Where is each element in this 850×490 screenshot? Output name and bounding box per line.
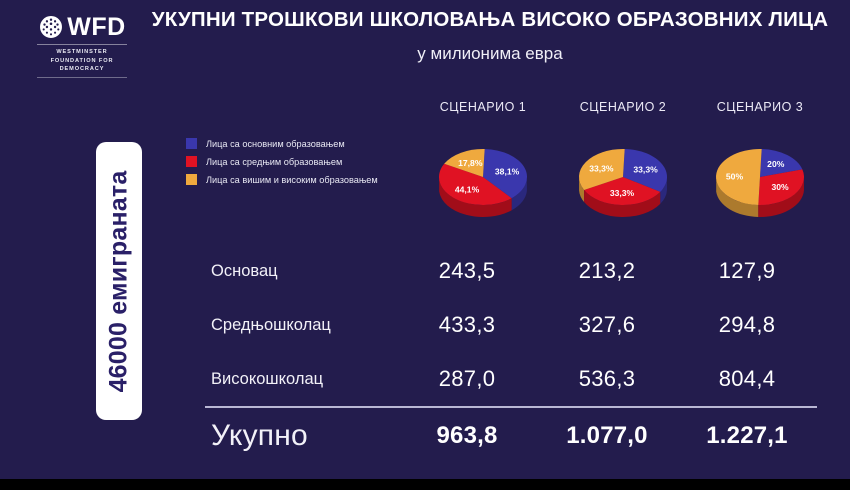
cell-srednjoskolac-scenario-1: 433,3 [397,312,537,338]
table-row: Основац 243,5 213,2 127,9 [205,244,817,298]
cell-srednjoskolac-scenario-2: 327,6 [537,312,677,338]
page-title: УКУПНИ ТРОШКОВИ ШКОЛОВАЊА ВИСОКО ОБРАЗОВ… [140,8,840,32]
cell-srednjoskolac-scenario-3: 294,8 [677,312,817,338]
logo-divider-bottom [37,77,127,78]
legend-label-primary-education: Лица са основним образовањем [206,139,345,149]
logo-divider-top [37,44,127,45]
slide-root: WFD WESTMINSTER FOUNDATION FOR DEMOCRACY… [0,0,850,490]
pie-chart-scenario-3: 20%30%50% [690,133,830,229]
cell-osnovac-scenario-2: 213,2 [537,258,677,284]
pie-slice-label: 44,1% [455,185,480,195]
pie-chart-scenario-2-svg: 33,3%33,3%33,3% [557,133,689,229]
cell-osnovac-scenario-3: 127,9 [677,258,817,284]
emigrants-badge-label: 46000 емиграната [105,170,134,392]
costs-table: Основац 243,5 213,2 127,9 Средњошколац 4… [205,244,817,464]
chart-legend: Лица са основним образовањем Лица са сре… [186,138,416,192]
bottom-black-strip [0,479,850,490]
cell-total-scenario-3: 1.227,1 [677,422,817,450]
pie-slice-label: 38,1% [495,167,520,177]
pie-chart-scenario-1-svg: 38,1%44,1%17,8% [417,133,549,229]
legend-swatch-orange [186,174,197,185]
legend-item-higher-education: Лица са вишим и високим образовањем [186,174,416,185]
cell-visokoskolac-scenario-1: 287,0 [397,366,537,392]
cell-visokoskolac-scenario-3: 804,4 [677,366,817,392]
legend-item-secondary-education: Лица са средњим образовањем [186,156,416,167]
logo-subtitle-line-3: DEMOCRACY [26,65,138,74]
pie-slice-label: 33,3% [633,164,658,174]
row-label-srednjoskolac: Средњошколац [205,316,397,335]
cell-visokoskolac-scenario-2: 536,3 [537,366,677,392]
legend-swatch-blue [186,138,197,149]
cell-osnovac-scenario-1: 243,5 [397,258,537,284]
row-label-total: Укупно [205,419,397,453]
globe-icon [38,14,64,40]
page-subtitle: у милионима евра [140,44,840,64]
cell-total-scenario-2: 1.077,0 [537,422,677,450]
scenario-1-header: СЦЕНАРИО 1 [413,100,553,114]
legend-swatch-red [186,156,197,167]
cell-total-scenario-1: 963,8 [397,422,537,450]
logo-acronym: WFD [67,15,125,40]
pie-slice-label: 50% [726,171,744,181]
table-total-row: Укупно 963,8 1.077,0 1.227,1 [205,408,817,464]
pie-chart-scenario-2: 33,3%33,3%33,3% [553,133,693,229]
logo-subtitle-line-2: FOUNDATION FOR [26,57,138,66]
pie-slice-label: 33,3% [610,188,635,198]
scenario-3-header: СЦЕНАРИО 3 [690,100,830,114]
logo-wordmark-row: WFD [26,14,138,40]
table-row: Високошколац 287,0 536,3 804,4 [205,352,817,406]
legend-label-secondary-education: Лица са средњим образовањем [206,157,342,167]
legend-label-higher-education: Лица са вишим и високим образовањем [206,175,378,185]
table-row: Средњошколац 433,3 327,6 294,8 [205,298,817,352]
pie-slice-label: 33,3% [589,163,614,173]
logo-subtitle-line-1: WESTMINSTER [26,48,138,57]
legend-item-primary-education: Лица са основним образовањем [186,138,416,149]
emigrants-badge: 46000 емиграната [96,142,142,420]
pie-chart-scenario-3-svg: 20%30%50% [694,133,826,229]
pie-slice-label: 20% [767,159,785,169]
pie-slice-label: 30% [771,182,789,192]
wfd-logo: WFD WESTMINSTER FOUNDATION FOR DEMOCRACY [26,14,138,78]
scenario-2-header: СЦЕНАРИО 2 [553,100,693,114]
row-label-visokoskolac: Високошколац [205,370,397,389]
pie-chart-scenario-1: 38,1%44,1%17,8% [413,133,553,229]
pie-slice-label: 17,8% [458,158,483,168]
row-label-osnovac: Основац [205,262,397,281]
